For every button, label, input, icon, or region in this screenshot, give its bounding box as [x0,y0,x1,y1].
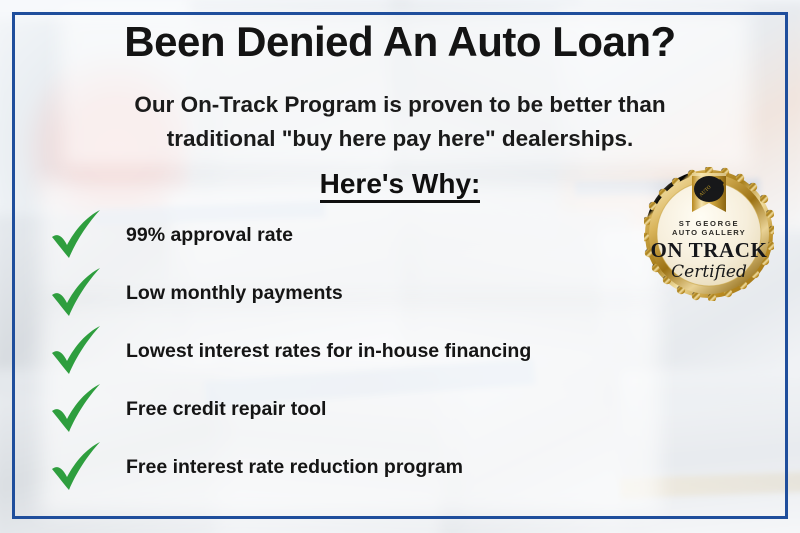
list-item: Low monthly payments [48,264,668,322]
section-heading-label: Here's Why: [320,168,481,203]
checkmark-icon [48,440,104,494]
seal-emblem-icon: AUTO [694,176,724,202]
list-item: Lowest interest rates for in-house finan… [48,322,668,380]
list-item-label: Free credit repair tool [126,398,326,421]
list-item-label: Lowest interest rates for in-house finan… [126,340,531,363]
seal-dealer-line-2: AUTO GALLERY [672,228,746,237]
list-item-label: Low monthly payments [126,282,343,305]
page-title: Been Denied An Auto Loan? [0,20,800,64]
subtitle-line-2: traditional "buy here pay here" dealersh… [70,122,730,156]
list-item: 99% approval rate [48,206,668,264]
list-item-label: Free interest rate reduction program [126,456,463,479]
seal-script-text: Certified [671,262,747,282]
subtitle-line-1: Our On-Track Program is proven to be bet… [70,88,730,122]
list-item-label: 99% approval rate [126,224,293,247]
checkmark-icon [48,266,104,320]
list-item: Free credit repair tool [48,380,668,438]
checkmark-icon [48,208,104,262]
list-item: Free interest rate reduction program [48,438,668,496]
subtitle: Our On-Track Program is proven to be bet… [70,88,730,156]
checkmark-icon [48,382,104,436]
seal-main-text: ON TRACK [650,238,767,262]
on-track-certified-seal: AUTO ST GEORGE AUTO GALLERY ON TRACK Cer… [644,167,774,301]
auto-loan-advertisement: Been Denied An Auto Loan? Our On-Track P… [0,0,800,533]
benefits-list: 99% approval rate Low monthly payments L… [48,206,668,496]
checkmark-icon [48,324,104,378]
seal-dealer-line-1: ST GEORGE [679,219,739,228]
ad-content: Been Denied An Auto Loan? Our On-Track P… [0,0,800,533]
